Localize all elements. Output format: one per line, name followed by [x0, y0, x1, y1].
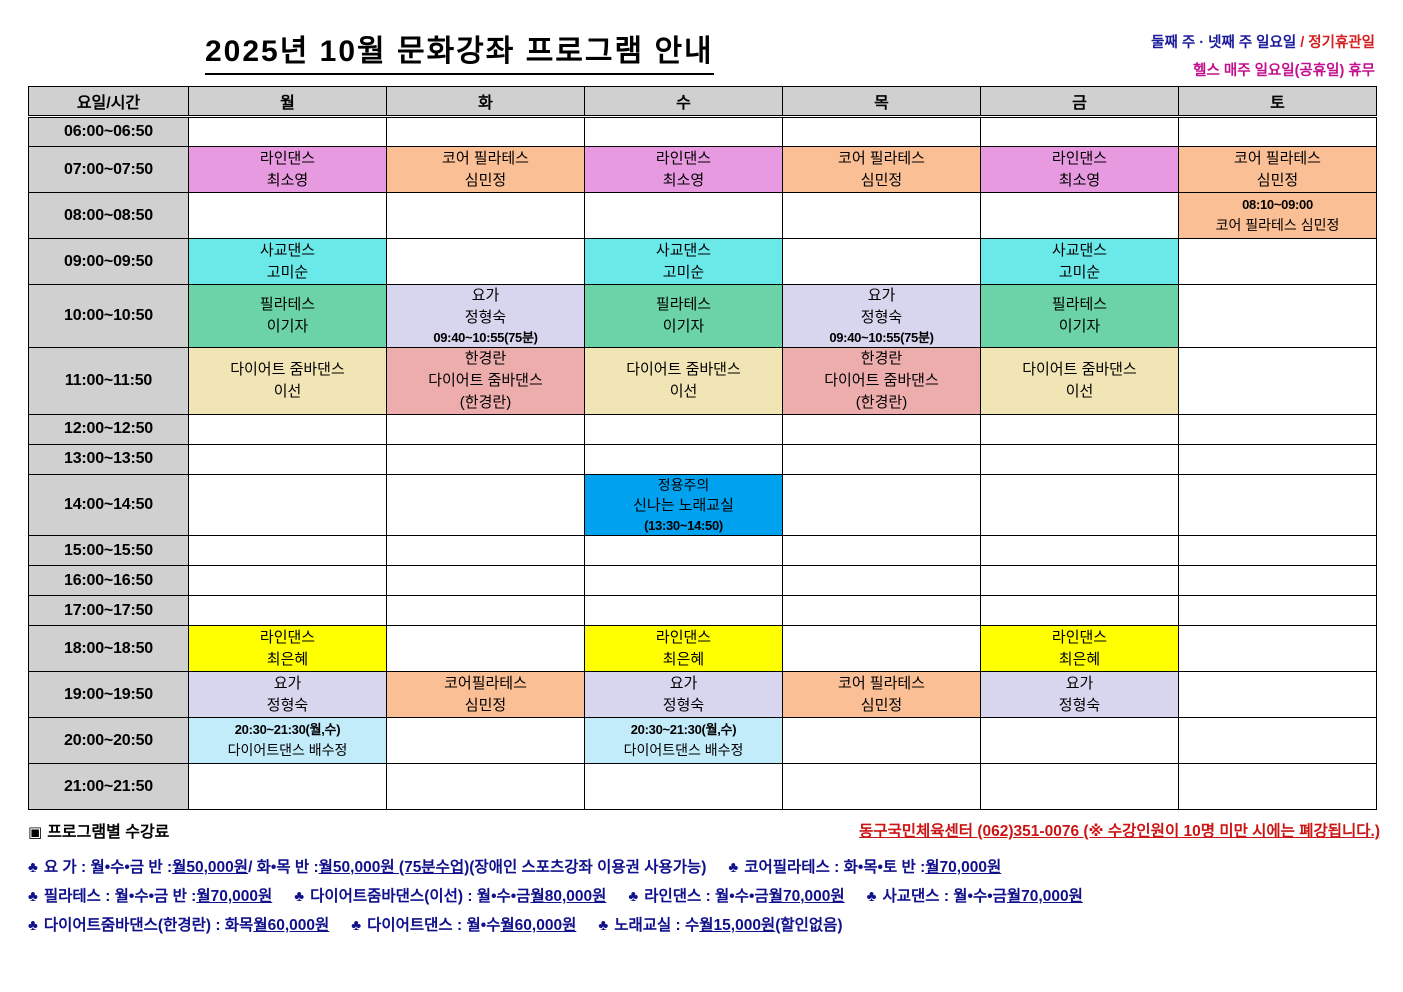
class-teacher: 이선	[670, 381, 698, 403]
time-label: 10:00~10:50	[29, 285, 189, 348]
fee-item-linedance: ♣ 라인댄스 : 월•수•금 월70,000원	[628, 884, 844, 906]
slot-fri-0800	[981, 193, 1179, 239]
note-closed-days-red: / 정기휴관일	[1300, 35, 1375, 51]
class-title: 다이어트 줌바댄스	[824, 370, 939, 392]
class-title: 사교댄스	[1052, 240, 1107, 262]
fee-price: 월70,000원	[196, 884, 272, 906]
slot-mon-1000[interactable]: 필라테스 이기자	[189, 285, 387, 348]
class-title: 다이어트 줌바댄스	[230, 359, 345, 381]
fee-price: 월70,000원	[1007, 884, 1083, 906]
slot-tue-1500	[387, 536, 585, 566]
class-title: 라인댄스	[260, 148, 315, 170]
time-label: 16:00~16:50	[29, 566, 189, 596]
fee-label: 노래교실 : 수	[614, 913, 699, 935]
class-title: 코어 필라테스	[838, 148, 925, 170]
class-teacher: 심민정	[465, 695, 506, 717]
square-marker-icon: ▣	[28, 824, 42, 841]
fee-item-pilates: ♣ 필라테스 : 월•수•금 반 : 월70,000원	[28, 884, 272, 906]
class-title-line1: 정용주의	[658, 475, 710, 495]
class-time: 20:30~21:30(월,수)	[631, 721, 736, 740]
slot-mon-1600	[189, 566, 387, 596]
note-closed-days: 둘째 주 · 넷째 주 일요일 / 정기휴관일	[1151, 30, 1375, 58]
footer-section-label: 프로그램별 수강료	[47, 824, 169, 841]
class-time: 08:10~09:00	[1242, 196, 1313, 215]
slot-tue-1400	[387, 474, 585, 536]
note-gym-holiday: 헬스 매주 일요일(공휴일) 휴무	[1151, 58, 1375, 86]
slot-wed-1200	[585, 414, 783, 444]
fee-price: 월80,000원	[530, 884, 606, 906]
time-label: 20:00~20:50	[29, 718, 189, 764]
class-teacher: (한경란)	[460, 392, 511, 414]
page-header: 2025년 10월 문화강좌 프로그램 안내 둘째 주 · 넷째 주 일요일 /…	[0, 0, 1403, 86]
table-row: 06:00~06:50	[29, 117, 1377, 147]
class-teacher: 정형숙	[465, 307, 506, 329]
slot-tue-0900	[387, 239, 585, 285]
contact-info: 동구국민체육센터 (062)351-0076 (※ 수강인원이 10명 미만 시…	[859, 819, 1380, 841]
time-label: 17:00~17:50	[29, 596, 189, 626]
slot-tue-1100[interactable]: 한경란 다이어트 줌바댄스 (한경란)	[387, 348, 585, 414]
slot-wed-1500	[585, 536, 783, 566]
slot-thu-1800	[783, 626, 981, 672]
fee-price: 월70,000원	[925, 855, 1001, 877]
slot-wed-1800[interactable]: 라인댄스 최은혜	[585, 626, 783, 672]
table-row: 14:00~14:50 정용주의 신나는 노래교실 (13:30~14:50)	[29, 474, 1377, 536]
slot-wed-1300	[585, 444, 783, 474]
fee-label: 코어필라테스 : 화•목•토 반 :	[744, 855, 925, 877]
table-row: 21:00~21:50	[29, 764, 1377, 810]
slot-thu-2100	[783, 764, 981, 810]
slot-sat-1000	[1179, 285, 1377, 348]
class-title: 요가	[472, 285, 500, 307]
time-label: 18:00~18:50	[29, 626, 189, 672]
slot-sat-0900	[1179, 239, 1377, 285]
header-day-wed: 수	[585, 87, 783, 117]
slot-thu-0800	[783, 193, 981, 239]
slot-tue-0800	[387, 193, 585, 239]
table-row: 13:00~13:50	[29, 444, 1377, 474]
header-day-sat: 토	[1179, 87, 1377, 117]
slot-sat-0800[interactable]: 08:10~09:00 코어 필라테스 심민정	[1179, 193, 1377, 239]
class-title: 라인댄스	[656, 148, 711, 170]
class-teacher: 이기자	[1059, 316, 1100, 338]
class-teacher: 이기자	[267, 316, 308, 338]
class-title: 코어 필라테스	[442, 148, 529, 170]
time-label: 11:00~11:50	[29, 348, 189, 414]
fee-price-alt: 월50,000원 (75분수업)	[319, 855, 470, 877]
fee-label: 라인댄스 : 월•수•금	[644, 884, 768, 906]
class-title: 다이어트댄스 배수정	[228, 740, 348, 760]
class-teacher: 고미순	[663, 262, 704, 284]
slot-thu-1400	[783, 474, 981, 536]
class-title: 라인댄스	[1052, 627, 1107, 649]
header-day-mon: 월	[189, 87, 387, 117]
fee-line-2: ♣ 필라테스 : 월•수•금 반 : 월70,000원 ♣ 다이어트줌바댄스(이…	[28, 884, 1380, 906]
slot-mon-1800[interactable]: 라인댄스 최은혜	[189, 626, 387, 672]
schedule-table: 요일/시간 월 화 수 목 금 토 06:00~06:50	[28, 86, 1377, 810]
fee-label: 다이어트줌바댄스(한경란) : 화목	[44, 913, 253, 935]
slot-mon-1900[interactable]: 요가 정형숙	[189, 672, 387, 718]
slot-fri-1000[interactable]: 필라테스 이기자	[981, 285, 1179, 348]
slot-mon-0900[interactable]: 사교댄스 고미순	[189, 239, 387, 285]
slot-sat-0600	[1179, 117, 1377, 147]
slot-wed-2100	[585, 764, 783, 810]
slot-fri-1300	[981, 444, 1179, 474]
slot-tue-1300	[387, 444, 585, 474]
class-title: 코어필라테스	[444, 673, 527, 695]
table-row: 09:00~09:50 사교댄스 고미순 사교댄스 고미순 사교댄스 고미순	[29, 239, 1377, 285]
table-row: 20:00~20:50 20:30~21:30(월,수) 다이어트댄스 배수정 …	[29, 718, 1377, 764]
slot-mon-1100[interactable]: 다이어트 줌바댄스 이선	[189, 348, 387, 414]
slot-mon-1500	[189, 536, 387, 566]
slot-sat-0700[interactable]: 코어 필라테스 심민정	[1179, 147, 1377, 193]
class-title: 다이어트댄스 배수정	[624, 740, 744, 760]
slot-mon-2100	[189, 764, 387, 810]
fee-label: 요 가 : 월•수•금 반 :	[44, 855, 172, 877]
club-icon: ♣	[28, 917, 38, 934]
note-closed-days-blue: 둘째 주 · 넷째 주 일요일	[1151, 35, 1296, 51]
class-teacher: 심민정	[465, 170, 506, 192]
time-label: 14:00~14:50	[29, 474, 189, 536]
class-teacher: 정형숙	[663, 695, 704, 717]
slot-fri-1500	[981, 536, 1179, 566]
table-row: 08:00~08:50 08:10~09:00 코어 필라테스 심민정	[29, 193, 1377, 239]
class-teacher: 최소영	[1059, 170, 1100, 192]
club-icon: ♣	[598, 917, 608, 934]
slot-thu-0900	[783, 239, 981, 285]
page-title: 2025년 10월 문화강좌 프로그램 안내	[205, 26, 714, 75]
slot-tue-0600	[387, 117, 585, 147]
slot-sat-1400	[1179, 474, 1377, 536]
slot-fri-2000	[981, 718, 1179, 764]
slot-mon-0800	[189, 193, 387, 239]
slot-sat-1800	[1179, 626, 1377, 672]
class-teacher: (한경란)	[856, 392, 907, 414]
class-time: (13:30~14:50)	[644, 517, 723, 536]
table-row: 15:00~15:50	[29, 536, 1377, 566]
slot-tue-2100	[387, 764, 585, 810]
slot-wed-song-class[interactable]: 정용주의 신나는 노래교실 (13:30~14:50)	[585, 474, 783, 536]
slot-mon-2000[interactable]: 20:30~21:30(월,수) 다이어트댄스 배수정	[189, 718, 387, 764]
slot-thu-1100[interactable]: 한경란 다이어트 줌바댄스 (한경란)	[783, 348, 981, 414]
slot-tue-0700[interactable]: 코어 필라테스 심민정	[387, 147, 585, 193]
slot-tue-1800	[387, 626, 585, 672]
table-row: 19:00~19:50 요가 정형숙 코어필라테스 심민정 요가 정형숙 코어 …	[29, 672, 1377, 718]
slot-thu-2000	[783, 718, 981, 764]
class-title: 라인댄스	[260, 627, 315, 649]
class-teacher: 최은혜	[663, 649, 704, 671]
class-teacher: 이선	[1066, 381, 1094, 403]
fee-suffix: / 화•목 반 :	[248, 855, 319, 877]
slot-sat-2000	[1179, 718, 1377, 764]
fee-price: 월70,000원	[769, 884, 845, 906]
fee-item-yoga: ♣ 요 가 : 월•수•금 반 : 월50,000원 / 화•목 반 : 월50…	[28, 855, 706, 877]
class-title: 코어 필라테스 심민정	[1216, 215, 1340, 235]
fee-item-social-dance: ♣ 사교댄스 : 월•수•금 월70,000원	[867, 884, 1083, 906]
slot-fri-1200	[981, 414, 1179, 444]
slot-thu-yoga[interactable]: 요가 정형숙 09:40~10:55(75분)	[783, 285, 981, 348]
class-title: 코어 필라테스	[838, 673, 925, 695]
header-day-tue: 화	[387, 87, 585, 117]
slot-thu-1600	[783, 566, 981, 596]
class-title: 다이어트 줌바댄스	[626, 359, 741, 381]
club-icon: ♣	[728, 859, 738, 876]
slot-sat-1500	[1179, 536, 1377, 566]
class-title: 다이어트 줌바댄스	[428, 370, 543, 392]
fee-price: 월15,000원	[699, 913, 775, 935]
fee-item-zumba-hankyungran: ♣ 다이어트줌바댄스(한경란) : 화목 월60,000원	[28, 913, 329, 935]
class-time: 20:30~21:30(월,수)	[235, 721, 340, 740]
slot-fri-1900[interactable]: 요가 정형숙	[981, 672, 1179, 718]
time-label: 13:00~13:50	[29, 444, 189, 474]
slot-fri-0600	[981, 117, 1179, 147]
slot-mon-0600	[189, 117, 387, 147]
class-title: 다이어트 줌바댄스	[1022, 359, 1137, 381]
schedule-page: 2025년 10월 문화강좌 프로그램 안내 둘째 주 · 넷째 주 일요일 /…	[0, 0, 1403, 992]
slot-mon-1700	[189, 596, 387, 626]
table-row: 12:00~12:50	[29, 414, 1377, 444]
fee-label: 사교댄스 : 월•수•금	[882, 884, 1006, 906]
slot-thu-1700	[783, 596, 981, 626]
slot-sat-1300	[1179, 444, 1377, 474]
class-title: 필라테스	[656, 294, 711, 316]
slot-tue-2000	[387, 718, 585, 764]
club-icon: ♣	[28, 888, 38, 905]
time-label: 06:00~06:50	[29, 117, 189, 147]
fee-item-zumba-iseon: ♣ 다이어트줌바댄스(이선) : 월•수•금 월80,000원	[294, 884, 606, 906]
class-title: 요가	[274, 673, 302, 695]
fee-suffix-alt: (장애인 스포츠강좌 이용권 사용가능)	[469, 855, 706, 877]
time-label: 09:00~09:50	[29, 239, 189, 285]
slot-wed-1100[interactable]: 다이어트 줌바댄스 이선	[585, 348, 783, 414]
time-label: 08:00~08:50	[29, 193, 189, 239]
time-label: 21:00~21:50	[29, 764, 189, 810]
slot-wed-1600	[585, 566, 783, 596]
class-title-line2: 신나는 노래교실	[633, 495, 734, 517]
fee-price: 월60,000원	[253, 913, 329, 935]
table-row: 11:00~11:50 다이어트 줌바댄스 이선 한경란 다이어트 줌바댄스 (…	[29, 348, 1377, 414]
slot-sat-1200	[1179, 414, 1377, 444]
slot-fri-1100[interactable]: 다이어트 줌바댄스 이선	[981, 348, 1179, 414]
fee-item-diet-dance: ♣ 다이어트댄스 : 월•수 월60,000원	[351, 913, 576, 935]
class-title: 라인댄스	[656, 627, 711, 649]
fee-item-song-class: ♣ 노래교실 : 수 월15,000원 (할인없음)	[598, 913, 842, 935]
slot-sat-2100	[1179, 764, 1377, 810]
slot-mon-1400	[189, 474, 387, 536]
slot-sat-1700	[1179, 596, 1377, 626]
slot-wed-1900[interactable]: 요가 정형숙	[585, 672, 783, 718]
slot-tue-1900[interactable]: 코어필라테스 심민정	[387, 672, 585, 718]
class-teacher: 이기자	[663, 316, 704, 338]
class-title: 필라테스	[260, 294, 315, 316]
footer-fees: ▣프로그램별 수강료 동구국민체육센터 (062)351-0076 (※ 수강인…	[28, 818, 1380, 935]
slot-wed-0700[interactable]: 라인댄스 최소영	[585, 147, 783, 193]
table-row: 10:00~10:50 필라테스 이기자 요가 정형숙 09:40~10:55(…	[29, 285, 1377, 348]
slot-fri-1800[interactable]: 라인댄스 최은혜	[981, 626, 1179, 672]
slot-sat-1600	[1179, 566, 1377, 596]
class-title: 코어 필라테스	[1234, 148, 1321, 170]
slot-thu-1200	[783, 414, 981, 444]
header-notes: 둘째 주 · 넷째 주 일요일 / 정기휴관일 헬스 매주 일요일(공휴일) 휴…	[1151, 30, 1375, 85]
table-row: 16:00~16:50	[29, 566, 1377, 596]
schedule-table-wrap: 요일/시간 월 화 수 목 금 토 06:00~06:50	[28, 86, 1376, 810]
class-teacher: 고미순	[267, 262, 308, 284]
fee-label: 필라테스 : 월•수•금 반 :	[44, 884, 196, 906]
fee-label: 다이어트댄스 : 월•수	[367, 913, 500, 935]
slot-tue-1200	[387, 414, 585, 444]
slot-tue-1700	[387, 596, 585, 626]
class-teacher: 고미순	[1059, 262, 1100, 284]
slot-thu-1300	[783, 444, 981, 474]
slot-thu-0600	[783, 117, 981, 147]
slot-tue-1600	[387, 566, 585, 596]
slot-wed-1000[interactable]: 필라테스 이기자	[585, 285, 783, 348]
slot-fri-0700[interactable]: 라인댄스 최소영	[981, 147, 1179, 193]
class-teacher: 정형숙	[267, 695, 308, 717]
slot-fri-2100	[981, 764, 1179, 810]
slot-wed-2000[interactable]: 20:30~21:30(월,수) 다이어트댄스 배수정	[585, 718, 783, 764]
table-header-row: 요일/시간 월 화 수 목 금 토	[29, 87, 1377, 117]
slot-wed-0600	[585, 117, 783, 147]
fee-price: 월60,000원	[500, 913, 576, 935]
class-teacher: 최소영	[267, 170, 308, 192]
slot-mon-1300	[189, 444, 387, 474]
slot-tue-yoga[interactable]: 요가 정형숙 09:40~10:55(75분)	[387, 285, 585, 348]
slot-mon-1200	[189, 414, 387, 444]
fee-item-core-pilates: ♣ 코어필라테스 : 화•목•토 반 : 월70,000원	[728, 855, 1001, 877]
class-teacher: 최소영	[663, 170, 704, 192]
class-time: 09:40~10:55(75분)	[829, 329, 933, 348]
slot-fri-1700	[981, 596, 1179, 626]
slot-sat-1100	[1179, 348, 1377, 414]
club-icon: ♣	[628, 888, 638, 905]
class-title: 사교댄스	[260, 240, 315, 262]
slot-fri-0900[interactable]: 사교댄스 고미순	[981, 239, 1179, 285]
class-teacher: 정형숙	[1059, 695, 1100, 717]
fee-price: 월50,000원	[172, 855, 248, 877]
slot-sat-1900	[1179, 672, 1377, 718]
slot-wed-1700	[585, 596, 783, 626]
class-teacher-top: 한경란	[861, 348, 902, 370]
club-icon: ♣	[28, 859, 38, 876]
class-title: 요가	[1066, 673, 1094, 695]
fee-label: 다이어트줌바댄스(이선) : 월•수•금	[310, 884, 530, 906]
class-title: 필라테스	[1052, 294, 1107, 316]
time-label: 12:00~12:50	[29, 414, 189, 444]
table-row: 18:00~18:50 라인댄스 최은혜 라인댄스 최은혜 라인댄스 최은혜	[29, 626, 1377, 672]
fee-line-1: ♣ 요 가 : 월•수•금 반 : 월50,000원 / 화•목 반 : 월50…	[28, 855, 1380, 877]
time-label: 19:00~19:50	[29, 672, 189, 718]
table-row: 17:00~17:50	[29, 596, 1377, 626]
fee-line-3: ♣ 다이어트줌바댄스(한경란) : 화목 월60,000원 ♣ 다이어트댄스 :…	[28, 913, 1380, 935]
class-teacher: 이선	[274, 381, 302, 403]
slot-mon-0700[interactable]: 라인댄스 최소영	[189, 147, 387, 193]
class-teacher: 최은혜	[1059, 649, 1100, 671]
class-time: 09:40~10:55(75분)	[433, 329, 537, 348]
class-title: 사교댄스	[656, 240, 711, 262]
time-label: 07:00~07:50	[29, 147, 189, 193]
slot-wed-0900[interactable]: 사교댄스 고미순	[585, 239, 783, 285]
header-corner: 요일/시간	[29, 87, 189, 117]
class-teacher: 심민정	[861, 170, 902, 192]
class-title: 요가	[868, 285, 896, 307]
table-row: 07:00~07:50 라인댄스 최소영 코어 필라테스 심민정 라인댄스 최소…	[29, 147, 1377, 193]
slot-thu-1900[interactable]: 코어 필라테스 심민정	[783, 672, 981, 718]
slot-thu-1500	[783, 536, 981, 566]
header-day-fri: 금	[981, 87, 1179, 117]
class-teacher: 최은혜	[267, 649, 308, 671]
club-icon: ♣	[351, 917, 361, 934]
slot-fri-1600	[981, 566, 1179, 596]
fee-suffix: (할인없음)	[775, 913, 842, 935]
club-icon: ♣	[867, 888, 877, 905]
class-teacher: 심민정	[1257, 170, 1298, 192]
footer-heading-row: ▣프로그램별 수강료 동구국민체육센터 (062)351-0076 (※ 수강인…	[28, 818, 1380, 848]
time-label: 15:00~15:50	[29, 536, 189, 566]
club-icon: ♣	[294, 888, 304, 905]
header-day-thu: 목	[783, 87, 981, 117]
class-teacher-top: 한경란	[465, 348, 506, 370]
slot-wed-0800	[585, 193, 783, 239]
slot-thu-0700[interactable]: 코어 필라테스 심민정	[783, 147, 981, 193]
slot-fri-1400	[981, 474, 1179, 536]
class-title: 라인댄스	[1052, 148, 1107, 170]
footer-section-title: ▣프로그램별 수강료	[28, 824, 169, 841]
class-teacher: 정형숙	[861, 307, 902, 329]
class-teacher: 심민정	[861, 695, 902, 717]
class-title: 요가	[670, 673, 698, 695]
